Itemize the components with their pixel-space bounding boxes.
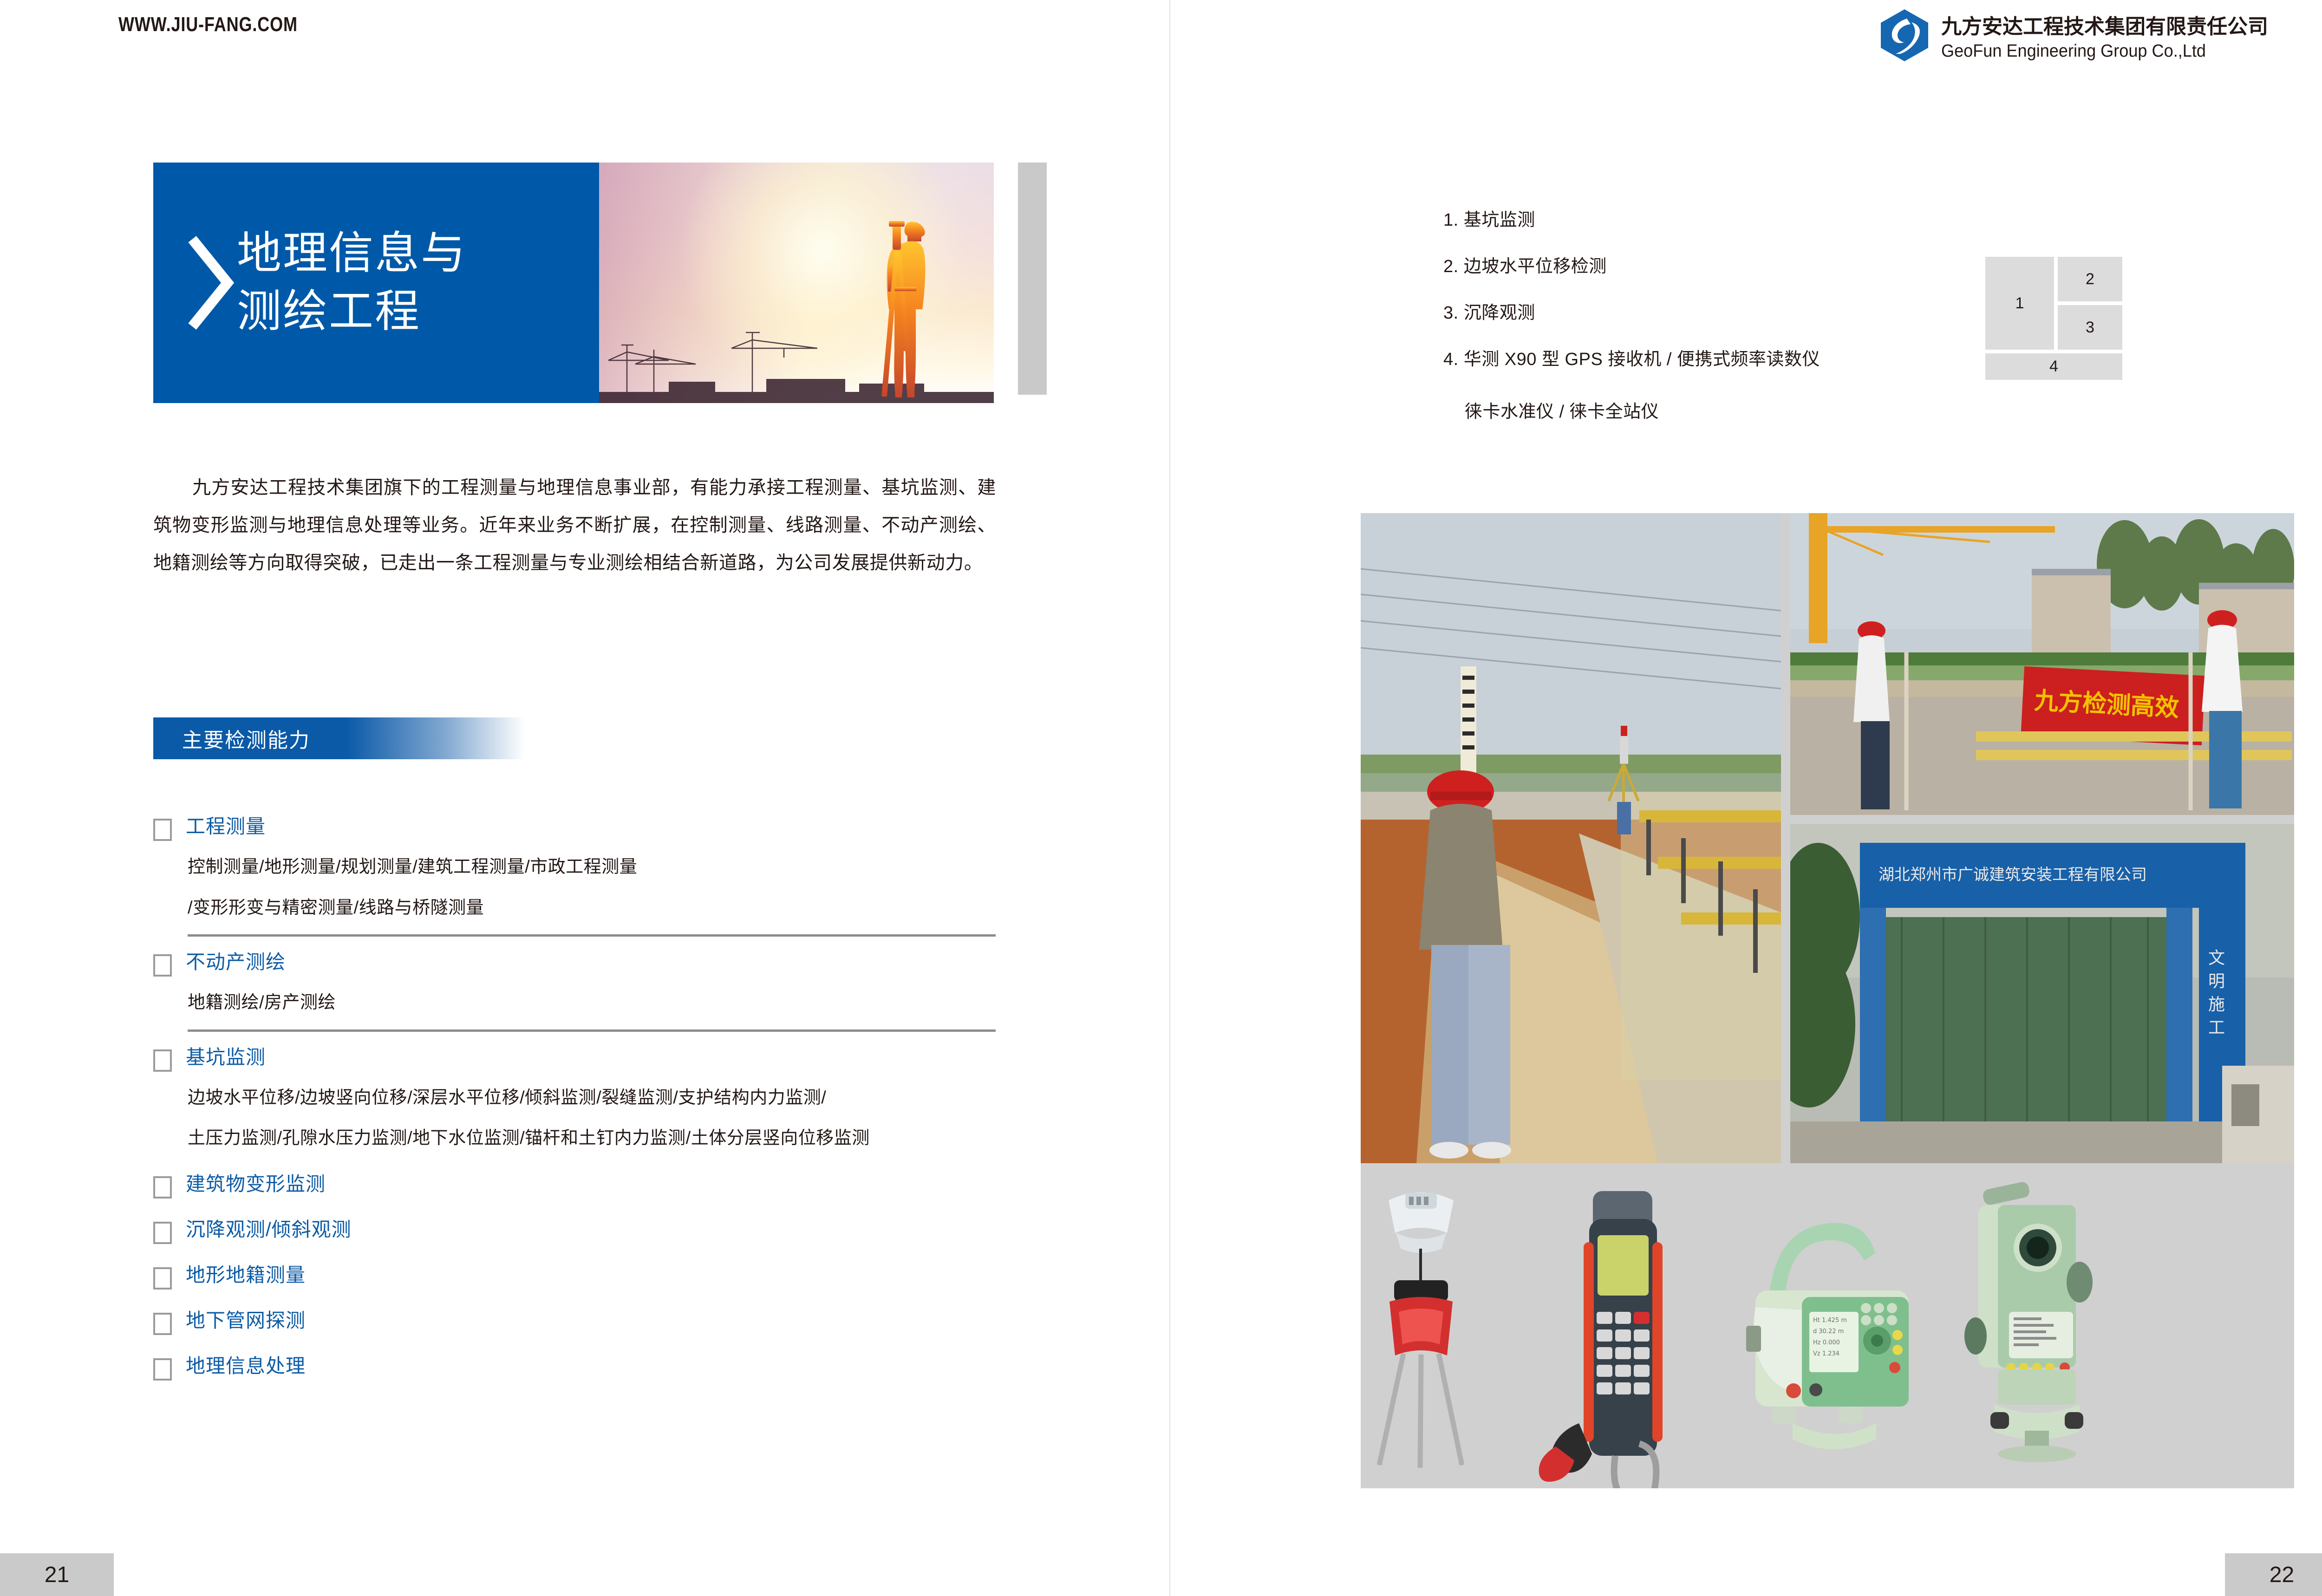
gallery-photo-3: 湖北郑州市广诚建筑安装工程有限公司 文明施工	[1790, 824, 2294, 1163]
page-number-right: 22	[2225, 1553, 2322, 1596]
capability-divider	[188, 934, 996, 937]
capability-spacer	[153, 1381, 996, 1400]
caption-item-4-line2: 徕卡水准仪 / 徕卡全站仪	[1465, 397, 1861, 423]
svg-text:Ht 1.425 m: Ht 1.425 m	[1813, 1317, 1847, 1324]
capability-row[interactable]: 不动产测绘	[153, 951, 996, 977]
site-url: WWW.JIU-FANG.COM	[118, 13, 298, 36]
banner-title: 地理信息与 测绘工程	[237, 225, 467, 341]
capability-row[interactable]: 基坑监测	[153, 1046, 996, 1072]
capability-row[interactable]: 地下管网探测	[153, 1309, 996, 1335]
caption-list: 1. 基坑监测 2. 边坡水平位移检测 3. 沉降观测 4. 华测 X90 型 …	[1443, 211, 1861, 423]
layout-map-cell-4: 4	[1985, 353, 2122, 380]
capability-subtext: 边坡水平位移/边坡竖向位移/深层水平位移/倾斜监测/裂缝监测/支护结构内力监测/	[188, 1084, 996, 1113]
intro-paragraph: 九方安达工程技术集团旗下的工程测量与地理信息事业部，有能力承接工程测量、基坑监测…	[153, 469, 996, 581]
capability-row[interactable]: 建筑物变形监测	[153, 1173, 996, 1199]
banner-accent-bar	[1018, 163, 1047, 395]
checkbox-icon[interactable]	[153, 1267, 172, 1290]
layout-map-cell-2: 2	[2058, 257, 2122, 301]
capability-spacer	[153, 1290, 996, 1309]
section-heading-text: 主要检测能力	[182, 723, 310, 753]
section-heading-bar: 主要检测能力	[153, 717, 525, 759]
capability-divider	[188, 1029, 996, 1032]
banner-blue-block: 地理信息与 测绘工程	[153, 163, 599, 403]
svg-text:Hz 0.000: Hz 0.000	[1813, 1339, 1840, 1346]
gallery-photo-2: 九方检测高效	[1790, 513, 2294, 815]
svg-text:湖北郑州市广诚建筑安装工程有限公司: 湖北郑州市广诚建筑安装工程有限公司	[1878, 866, 2147, 884]
capability-spacer	[153, 1335, 996, 1355]
capability-title: 地下管网探测	[186, 1309, 306, 1332]
checkbox-icon[interactable]	[153, 1176, 172, 1199]
capability-group: 地下管网探测	[153, 1309, 996, 1355]
capability-subtext: 控制测量/地形测量/规划测量/建筑工程测量/市政工程测量	[188, 853, 996, 882]
capability-group: 不动产测绘地籍测绘/房产测绘	[153, 951, 996, 1032]
svg-text:施: 施	[2208, 995, 2225, 1014]
capability-title: 建筑物变形监测	[186, 1173, 326, 1196]
checkbox-icon[interactable]	[153, 1222, 172, 1244]
surveyor-silhouette-icon	[862, 217, 946, 403]
gallery-photo-1	[1361, 513, 1781, 1163]
svg-text:文: 文	[2208, 949, 2225, 968]
capability-list: 工程测量控制测量/地形测量/规划测量/建筑工程测量/市政工程测量/变形形变与精密…	[153, 815, 996, 1400]
capability-title: 地形地籍测量	[186, 1264, 306, 1287]
company-logo: 九方安达工程技术集团有限责任公司 GeoFun Engineering Grou…	[1880, 8, 2268, 62]
checkbox-icon[interactable]	[153, 1313, 172, 1335]
capability-title: 沉降观测/倾斜观测	[186, 1218, 352, 1241]
page-number-left-text: 21	[45, 1562, 69, 1588]
capability-row[interactable]: 沉降观测/倾斜观测	[153, 1218, 996, 1244]
checkbox-icon[interactable]	[153, 819, 172, 841]
photo-layout-map: 1 2 3 4	[1985, 257, 2122, 380]
capability-spacer	[153, 1244, 996, 1264]
geofun-logo-icon	[1880, 8, 1929, 62]
caption-item-4: 4. 华测 X90 型 GPS 接收机 / 便携式频率读数仪	[1443, 351, 1861, 368]
capability-subtext: 土压力监测/孔隙水压力监测/地下水位监测/锚杆和土钉内力监测/土体分层竖向位移监…	[188, 1124, 996, 1153]
capability-group: 地形地籍测量	[153, 1264, 996, 1309]
checkbox-icon[interactable]	[153, 1358, 172, 1381]
capability-title: 地理信息处理	[186, 1355, 306, 1378]
banner-photo	[599, 163, 994, 403]
capability-group: 沉降观测/倾斜观测	[153, 1218, 996, 1264]
capability-subtext: /变形形变与精密测量/线路与桥隧测量	[188, 894, 996, 923]
page-number-left: 21	[0, 1553, 114, 1596]
capability-title: 基坑监测	[186, 1046, 266, 1069]
checkbox-icon[interactable]	[153, 954, 172, 977]
caption-item-3: 3. 沉降观测	[1443, 304, 1861, 322]
capability-group: 建筑物变形监测	[153, 1173, 996, 1218]
chevron-right-icon	[181, 232, 237, 334]
capability-group: 工程测量控制测量/地形测量/规划测量/建筑工程测量/市政工程测量/变形形变与精密…	[153, 815, 996, 937]
capability-group: 地理信息处理	[153, 1355, 996, 1400]
brochure-spread: WWW.JIU-FANG.COM 九方安达工程技术集团有限责任公司 GeoFun…	[0, 0, 2322, 1596]
layout-map-cell-1: 1	[1985, 257, 2054, 350]
caption-item-1: 1. 基坑监测	[1443, 211, 1861, 229]
capability-title: 工程测量	[186, 815, 266, 838]
section-banner: 地理信息与 测绘工程	[153, 163, 994, 403]
capability-subtext: 地籍测绘/房产测绘	[188, 989, 996, 1017]
capability-spacer	[153, 1153, 996, 1173]
brand-name-cn: 九方安达工程技术集团有限责任公司	[1941, 10, 2268, 39]
capability-title: 不动产测绘	[186, 951, 286, 974]
svg-text:d 30.22 m: d 30.22 m	[1813, 1328, 1844, 1335]
capability-row[interactable]: 地理信息处理	[153, 1355, 996, 1381]
capability-row[interactable]: 地形地籍测量	[153, 1264, 996, 1290]
svg-text:工: 工	[2208, 1018, 2225, 1037]
checkbox-icon[interactable]	[153, 1049, 172, 1072]
capability-row[interactable]: 工程测量	[153, 815, 996, 841]
capability-spacer	[153, 1199, 996, 1218]
page-number-right-text: 22	[2270, 1562, 2294, 1588]
svg-text:明: 明	[2208, 972, 2225, 991]
brand-name-en: GeoFun Engineering Group Co.,Ltd	[1941, 41, 2252, 61]
photo-gallery: 九方检测高效	[1361, 513, 2294, 1488]
instrument-photo-strip: Ht 1.425 md 30.22 m Hz 0.000Vz 1.234	[1361, 1173, 2234, 1488]
layout-map-cell-3: 3	[2058, 305, 2122, 350]
svg-text:Vz 1.234: Vz 1.234	[1813, 1350, 1839, 1357]
caption-item-2: 2. 边坡水平位移检测	[1443, 258, 1861, 275]
page-spine-divider	[1169, 0, 1170, 1596]
capability-group: 基坑监测边坡水平位移/边坡竖向位移/深层水平位移/倾斜监测/裂缝监测/支护结构内…	[153, 1046, 996, 1173]
